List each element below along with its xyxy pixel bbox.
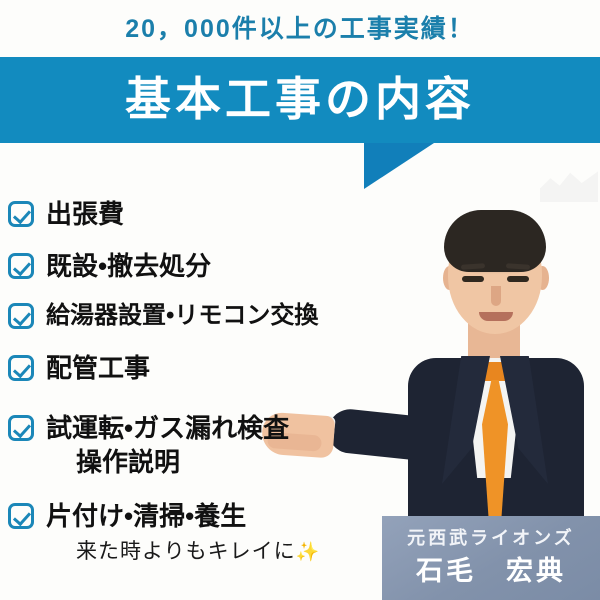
person-eye-left (462, 276, 484, 282)
title-banner: 基本工事の内容 (0, 57, 600, 143)
person-eye-right (507, 276, 529, 282)
checklist-item-label: 既設•撤去処分 (46, 250, 211, 282)
sparkle-icon: ✨ (296, 542, 321, 563)
promo-banner-page: 20，000件以上の工事実績！ 基本工事の内容 出張費 (0, 0, 600, 600)
checklist-item-label-continued: 操作説明 (76, 446, 180, 478)
checklist-item-label: 片付け•清掃•養生 (46, 500, 246, 532)
nameplate: 元西武ライオンズ 石毛 宏典 (382, 516, 600, 600)
checklist-item-label: 給湯器設置•リモコン交換 (46, 300, 318, 332)
checkbox-checked-icon (8, 355, 34, 381)
checklist-item-label: 試運転•ガス漏れ検査 (46, 412, 289, 444)
checkbox-checked-icon (8, 303, 34, 329)
nameplate-team: 元西武ライオンズ (382, 525, 600, 551)
checklist-sub-note: 来た時よりもキレイに✨ (76, 538, 320, 566)
checklist-item: 出張費 (8, 198, 124, 230)
checklist-item: 給湯器設置•リモコン交換 (8, 300, 318, 332)
checklist-item-continuation: 操作説明 (76, 446, 180, 478)
checkbox-checked-icon (8, 201, 34, 227)
person-mouth (479, 312, 513, 321)
nameplate-name: 石毛 宏典 (382, 551, 600, 591)
eyebrow-headline: 20，000件以上の工事実績！ (0, 12, 600, 46)
person-nose (491, 286, 501, 306)
checkbox-checked-icon (8, 503, 34, 529)
checklist-item: 片付け•清掃•養生 (8, 500, 246, 532)
checklist-item: 試運転•ガス漏れ検査 (8, 412, 289, 444)
person-photo (390, 180, 600, 525)
sub-note-text: 来た時よりもキレイに (76, 539, 296, 563)
banner-title: 基本工事の内容 (0, 65, 600, 133)
checkbox-checked-icon (8, 253, 34, 279)
checklist-item-label: 出張費 (46, 198, 124, 230)
checklist-item: 既設•撤去処分 (8, 250, 211, 282)
checklist-item-label: 配管工事 (46, 352, 150, 384)
person-hair (444, 210, 546, 272)
checklist-item: 配管工事 (8, 352, 150, 384)
checkbox-checked-icon (8, 415, 34, 441)
